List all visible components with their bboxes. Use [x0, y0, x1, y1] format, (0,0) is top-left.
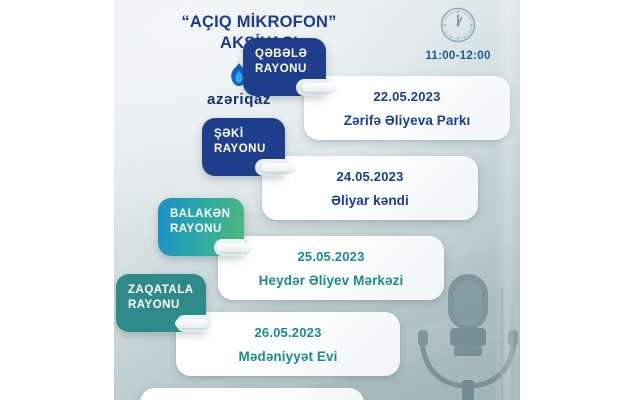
poster-title-line-1: “AÇIQ MİKROFON” — [114, 12, 404, 33]
district-name-line-2: RAYONU — [128, 298, 192, 313]
schedule-place: Mədəniyyət Evi — [239, 349, 338, 364]
district-name-line-1: ŞƏKİ — [214, 127, 271, 142]
poster-image: “AÇIQ MİKROFON” AKSİYASI azəriqaz — [114, 0, 520, 400]
tag-card-connector — [217, 243, 251, 252]
event-time-block: 11:00-12:00 — [402, 6, 514, 62]
schedule-date: 22.05.2023 — [373, 89, 440, 104]
microphone-icon — [408, 252, 520, 400]
tag-card-connector — [175, 319, 209, 328]
district-name-line-2: RAYONU — [170, 222, 230, 237]
district-name-line-2: RAYONU — [214, 142, 271, 157]
clock-icon — [439, 6, 477, 44]
district-name-line-1: QƏBƏLƏ — [255, 47, 312, 62]
district-name-line-2: RAYONU — [255, 62, 312, 77]
schedule-place: Əliyar kəndi — [331, 193, 409, 208]
event-time-label: 11:00-12:00 — [402, 50, 514, 62]
schedule-date: 24.05.2023 — [336, 169, 403, 184]
page-root: “AÇIQ MİKROFON” AKSİYASI azəriqaz — [0, 0, 637, 400]
schedule-card-partial — [140, 388, 364, 400]
district-name-line-1: BALAKƏN — [170, 207, 230, 222]
tag-card-connector — [302, 83, 336, 92]
schedule-card: 26.05.2023 Mədəniyyət Evi — [176, 312, 400, 376]
schedule-date: 26.05.2023 — [254, 325, 321, 340]
schedule-place: Zərifə Əliyeva Parkı — [344, 113, 471, 128]
schedule-place: Heydər Əliyev Mərkəzi — [259, 273, 404, 288]
schedule-date: 25.05.2023 — [297, 249, 364, 264]
district-name-line-1: ZAQATALA — [128, 283, 192, 298]
tag-card-connector — [261, 163, 295, 172]
